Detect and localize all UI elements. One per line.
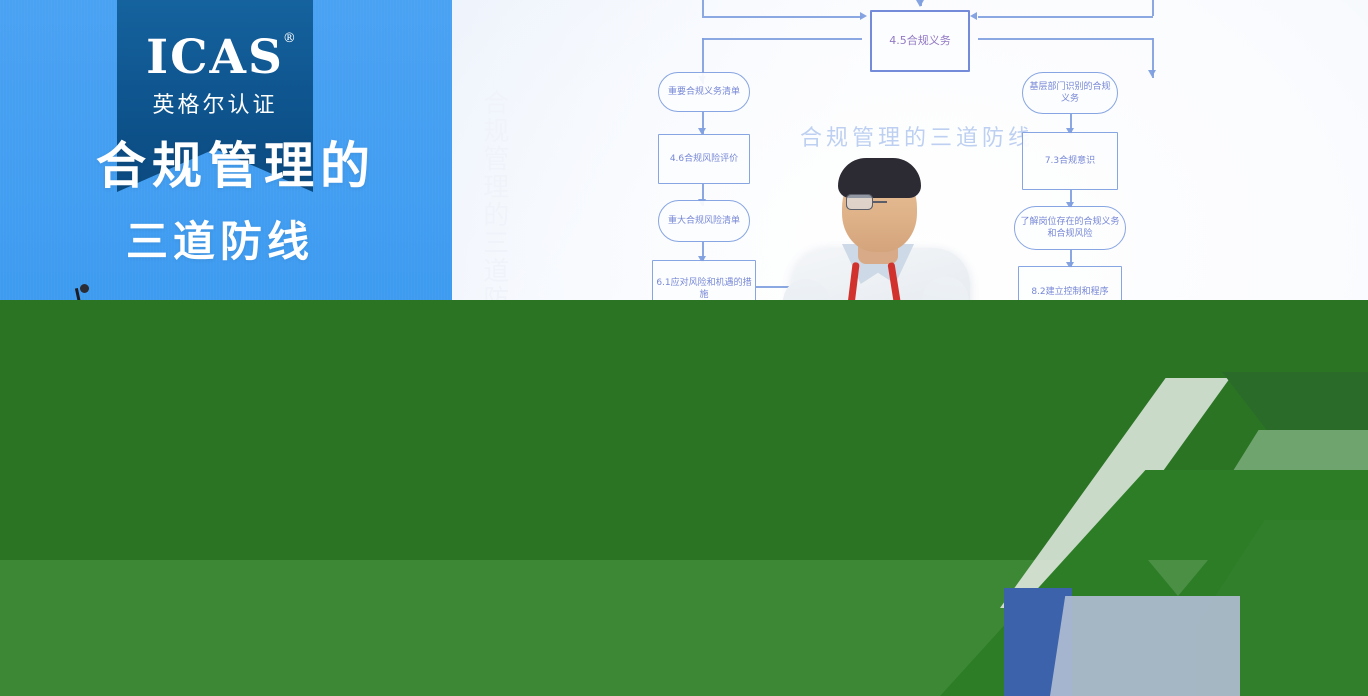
registered-trademark-icon: ® <box>283 32 298 45</box>
flow-node-dept-identified-obligations: 基层部门识别的合规义务 <box>1022 72 1118 114</box>
flow-node-major-risk-list: 重大合规风险清单 <box>658 200 750 242</box>
flow-node-7-3-awareness: 7.3合规意识 <box>1022 132 1118 190</box>
block-gray-overlay <box>1050 596 1240 696</box>
flow-line <box>1152 0 1154 16</box>
flow-node-4-6-risk-eval: 4.6合规风险评价 <box>658 134 750 184</box>
flow-node-key-obligation-list: 重要合规义务清单 <box>658 72 750 112</box>
flow-line <box>978 16 1153 18</box>
flow-line <box>702 0 704 16</box>
icas-wordmark: ICAS ® <box>146 34 284 81</box>
flow-arrow <box>1148 70 1156 77</box>
flow-line <box>978 38 1153 40</box>
eyeglasses-icon <box>846 194 914 210</box>
speaker-hair <box>838 158 921 198</box>
flow-arrow <box>970 12 977 20</box>
icas-wordmark-text: ICAS <box>146 30 284 85</box>
flow-arrow <box>860 12 867 20</box>
wall-headline-line1: 合规管理的 <box>96 126 376 198</box>
podium-microphone-head <box>80 284 89 293</box>
flow-node-4-5-obligations: 4.5合规义务 <box>870 10 970 72</box>
flow-arrow <box>916 0 924 7</box>
flow-node-post-obligations-risks: 了解岗位存在的合规义务和合规风险 <box>1014 206 1126 250</box>
screenshot-stage: 合规管理的三道防线 合规管理的三道防线 4.5合规义务 重要合规义务清单 <box>0 0 1368 696</box>
icas-chinese-name: 英格尔认证 <box>152 87 277 119</box>
flow-line <box>702 16 862 18</box>
wall-headline-line2: 三道防线 <box>126 208 314 269</box>
flow-line <box>702 38 862 40</box>
